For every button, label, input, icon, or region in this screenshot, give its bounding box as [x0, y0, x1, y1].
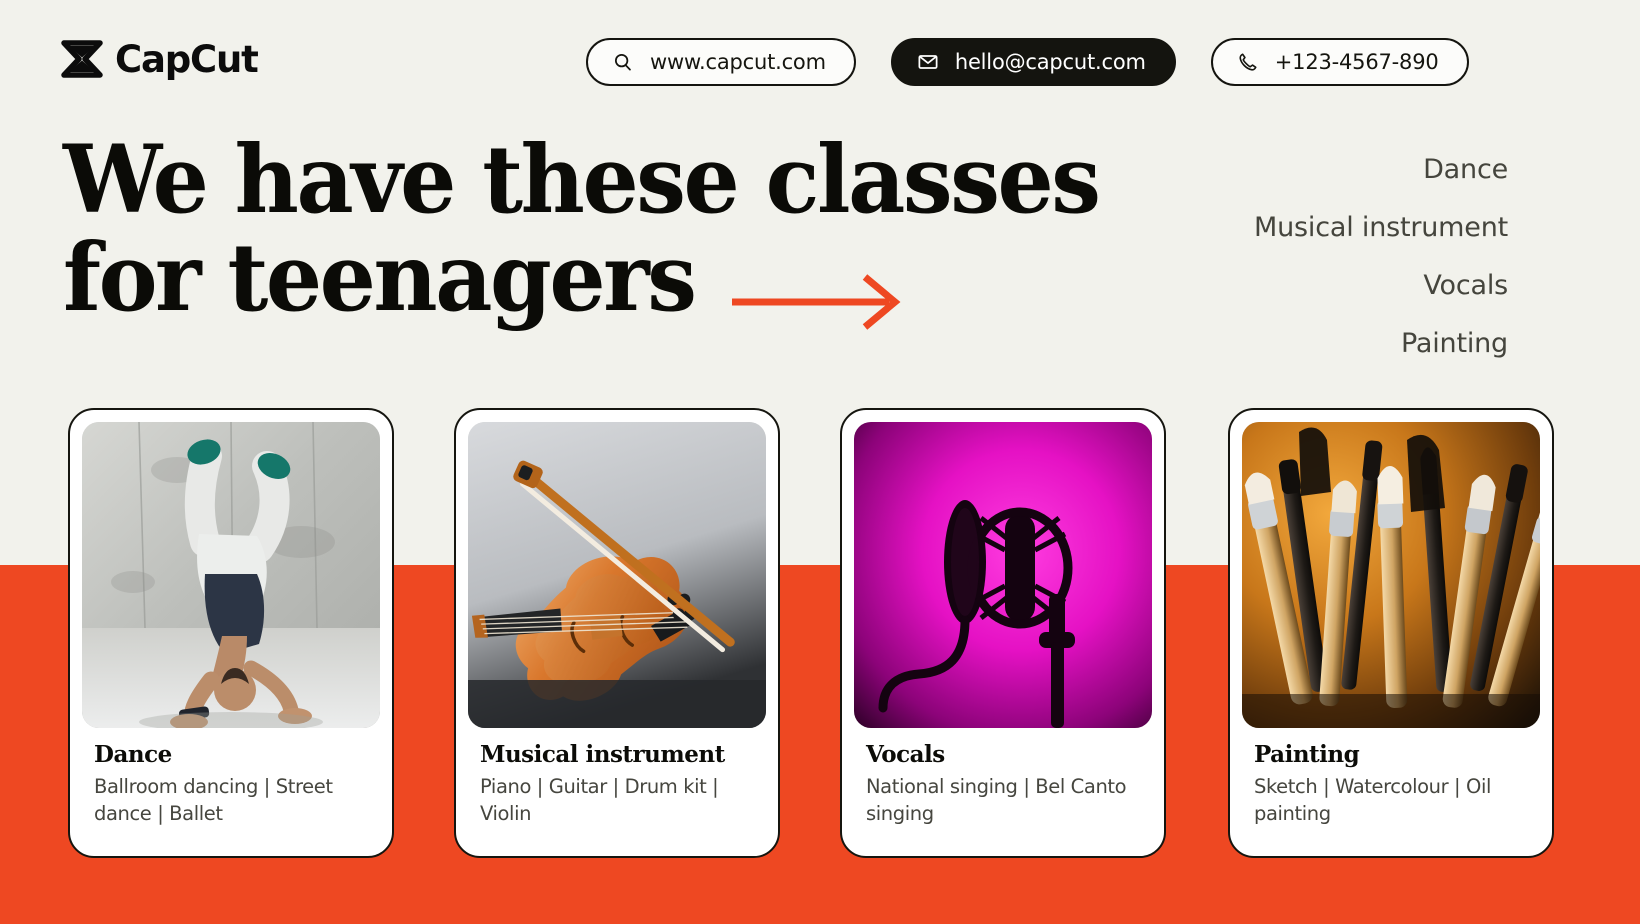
category-item-vocals[interactable]: Vocals [1254, 257, 1508, 315]
arrow-right-icon[interactable] [729, 270, 901, 334]
headline-line-2: for teenagers [63, 230, 1116, 328]
breakdancer-handstand-photo [82, 422, 380, 728]
class-card-painting-body: Painting Sketch | Watercolour | Oil pain… [1242, 728, 1540, 828]
category-item-dance[interactable]: Dance [1254, 141, 1508, 199]
class-card-painting[interactable]: Painting Sketch | Watercolour | Oil pain… [1228, 408, 1554, 858]
class-card-dance[interactable]: Dance Ballroom dancing | Street dance | … [68, 408, 394, 858]
category-list: Dance Musical instrument Vocals Painting [1254, 141, 1508, 373]
class-card-row: Dance Ballroom dancing | Street dance | … [0, 394, 1640, 874]
mail-icon [917, 51, 939, 73]
contact-pill-group: www.capcut.com hello@capcut.com +123-456… [586, 38, 1469, 86]
page-title: We have these classes for teenagers [63, 132, 1116, 328]
class-card-musical-instrument-title: Musical instrument [480, 742, 754, 768]
class-card-vocals[interactable]: Vocals National singing | Bel Canto sing… [840, 408, 1166, 858]
headline-line-1: We have these classes [63, 132, 1116, 230]
studio-microphone-magenta-photo [854, 422, 1152, 728]
class-card-dance-title: Dance [94, 742, 368, 768]
category-item-painting[interactable]: Painting [1254, 315, 1508, 373]
capcut-hourglass-logo-icon [60, 37, 104, 81]
class-card-painting-desc: Sketch | Watercolour | Oil painting [1254, 774, 1528, 828]
contact-pill-email-label: hello@capcut.com [955, 50, 1146, 74]
class-card-musical-instrument-body: Musical instrument Piano | Guitar | Drum… [468, 728, 766, 828]
phone-icon [1237, 51, 1259, 73]
class-card-vocals-body: Vocals National singing | Bel Canto sing… [854, 728, 1152, 828]
class-card-vocals-desc: National singing | Bel Canto singing [866, 774, 1140, 828]
paint-brushes-photo [1242, 422, 1540, 728]
class-card-musical-instrument[interactable]: Musical instrument Piano | Guitar | Drum… [454, 408, 780, 858]
contact-pill-website-label: www.capcut.com [650, 50, 826, 74]
contact-pill-email[interactable]: hello@capcut.com [891, 38, 1176, 86]
search-icon [612, 51, 634, 73]
class-card-painting-title: Painting [1254, 742, 1528, 768]
class-card-vocals-title: Vocals [866, 742, 1140, 768]
contact-pill-website[interactable]: www.capcut.com [586, 38, 856, 86]
contact-pill-phone[interactable]: +123-4567-890 [1211, 38, 1469, 86]
brand-logo[interactable]: CapCut [60, 37, 258, 81]
class-card-dance-body: Dance Ballroom dancing | Street dance | … [82, 728, 380, 828]
header: CapCut www.capcut.com hello@capcut.com [0, 0, 1640, 128]
brand-name: CapCut [115, 41, 258, 78]
violin-and-bow-photo [468, 422, 766, 728]
contact-pill-phone-label: +123-4567-890 [1275, 50, 1439, 74]
class-card-musical-instrument-desc: Piano | Guitar | Drum kit | Violin [480, 774, 754, 828]
class-card-dance-desc: Ballroom dancing | Street dance | Ballet [94, 774, 368, 828]
poster-canvas: CapCut www.capcut.com hello@capcut.com [0, 0, 1640, 924]
category-item-musical-instrument[interactable]: Musical instrument [1254, 199, 1508, 257]
